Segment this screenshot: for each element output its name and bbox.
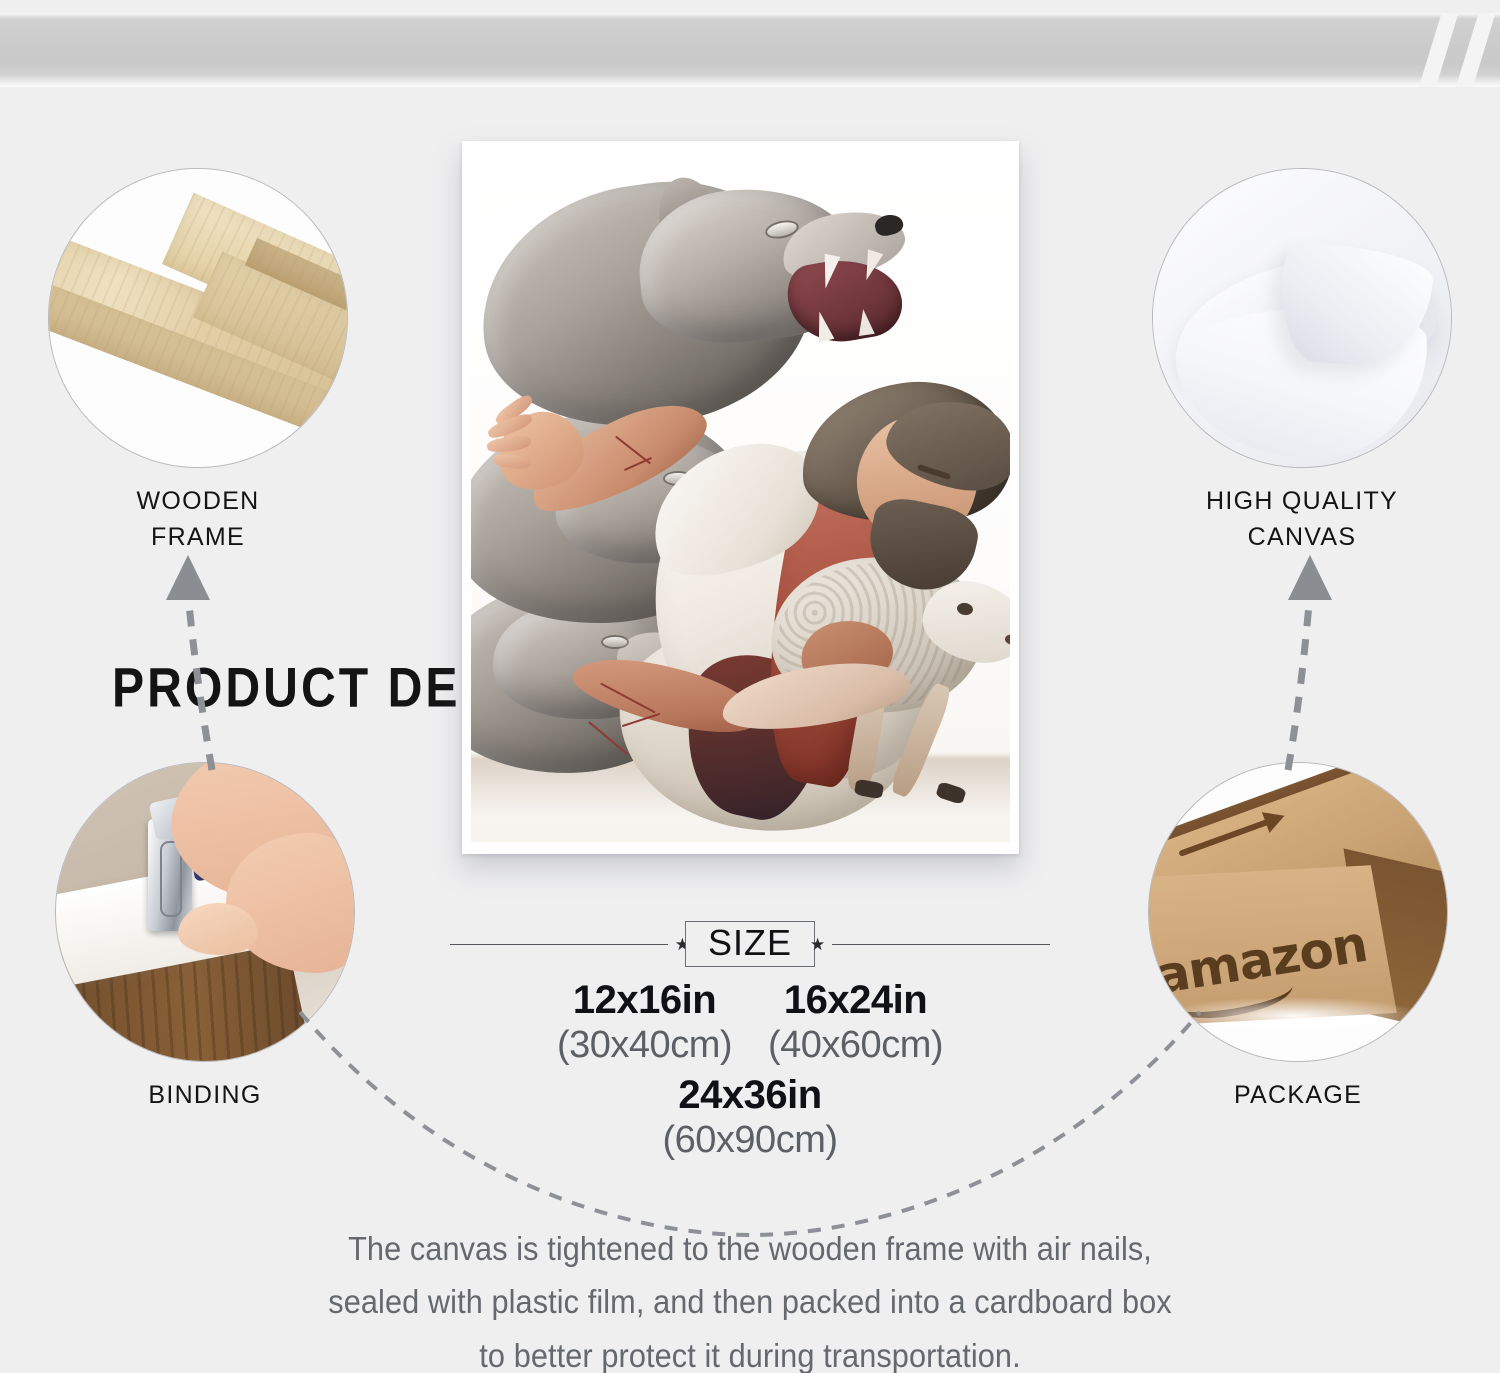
feature-label-wooden-frame: WOODEN FRAME [48,484,348,555]
banner-gloss-top [0,13,1500,19]
size-title: SIZE [708,922,792,963]
size-option-row-1: 12x16in (30x40cm) 16x24in (40x60cm) [450,978,1050,1067]
size-rule-left [450,944,668,945]
footer-description: The canvas is tightened to the wooden fr… [0,1222,1500,1373]
feature-label-canvas: HIGH QUALITY CANVAS [1152,484,1452,555]
footer-line-3: to better protect it during transportati… [53,1329,1448,1373]
feature-wooden-frame: WOODEN FRAME [48,168,348,555]
canvas-print-preview [462,141,1019,854]
arrow-head-right [1288,555,1332,600]
size-rule-right [832,944,1050,945]
wooden-frame-icon [48,168,348,468]
size-centimeters: (30x40cm) [557,1023,732,1067]
staple-gun-icon [55,762,355,1062]
size-inches: 12x16in [557,978,732,1023]
wolf-eye-bottom [603,637,627,647]
star-icon-right: ★ [810,936,825,953]
size-centimeters: (40x60cm) [768,1023,943,1067]
wolf-fang-4 [855,308,874,336]
product-description-infographic: PRODUCT DESCRIPTION WOODEN FRAME HIGH QU… [0,0,1500,1373]
header-banner [0,13,1500,87]
size-title-box: SIZE [685,921,815,967]
size-option-row-2: 24x36in (60x90cm) [450,1073,1050,1162]
footer-line-1: The canvas is tightened to the wooden fr… [53,1222,1448,1275]
size-option-16x24[interactable]: 16x24in (40x60cm) [768,978,943,1067]
size-section: ★ SIZE ★ 12x16in (30x40cm) 16x24in (40x6… [450,920,1050,1162]
feature-high-quality-canvas: HIGH QUALITY CANVAS [1152,168,1452,555]
canvas-sheet-icon [1152,168,1452,468]
size-centimeters: (60x90cm) [663,1118,838,1162]
banner-gloss-bottom [0,75,1500,87]
footer-line-2: sealed with plastic film, and then packe… [53,1275,1448,1328]
feature-binding: BINDING [55,762,355,1114]
size-option-24x36[interactable]: 24x36in (60x90cm) [663,1073,838,1162]
box-base-highlight [1159,997,1429,1035]
size-option-12x16[interactable]: 12x16in (30x40cm) [557,978,732,1067]
feature-label-binding: BINDING [55,1078,355,1114]
size-heading-row: ★ SIZE ★ [450,920,1050,968]
artwork-jesus-and-wolves [471,151,1010,842]
cardboard-box-icon: amazon [1148,762,1448,1062]
arrow-head-left [166,555,210,600]
size-inches: 16x24in [768,978,943,1023]
feature-label-package: PACKAGE [1148,1078,1448,1114]
feature-package: amazon PACKAGE [1148,762,1448,1114]
dashed-line-right [1288,592,1310,770]
size-inches: 24x36in [663,1073,838,1118]
